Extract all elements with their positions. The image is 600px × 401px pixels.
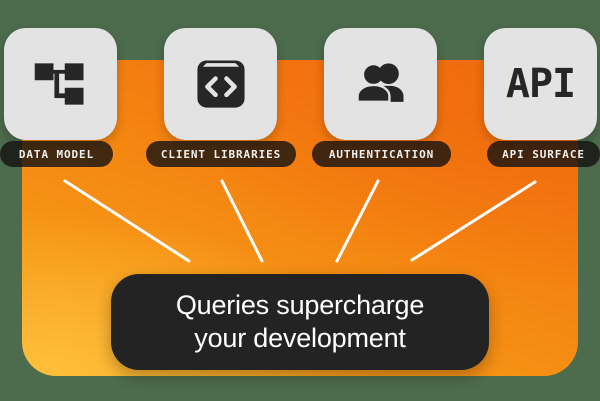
label-pill-client-libraries[interactable]: CLIENT LIBRARIES	[146, 141, 296, 167]
diagram-stage: API DATA MODEL CLIENT LIBRARIES AUTHENTI…	[0, 0, 600, 401]
callout-line-1: Queries supercharge	[176, 289, 424, 322]
hierarchy-icon	[29, 52, 93, 116]
label-pill-authentication[interactable]: AUTHENTICATION	[312, 141, 451, 167]
api-text-icon: API	[509, 52, 573, 116]
label-text-client-libraries: CLIENT LIBRARIES	[161, 149, 281, 160]
label-text-api-surface: API SURFACE	[502, 149, 585, 160]
card-data-model[interactable]	[4, 28, 117, 140]
label-pill-data-model[interactable]: DATA MODEL	[0, 141, 113, 167]
label-text-authentication: AUTHENTICATION	[329, 149, 434, 160]
users-icon	[349, 52, 413, 116]
label-pill-api-surface[interactable]: API SURFACE	[487, 141, 600, 167]
callout-text: Queries supercharge your development	[158, 289, 442, 356]
api-icon-label: API	[506, 64, 575, 104]
label-text-data-model: DATA MODEL	[19, 149, 94, 160]
card-client-libraries[interactable]	[164, 28, 277, 140]
card-api-surface[interactable]: API	[484, 28, 597, 140]
callout-box: Queries supercharge your development	[111, 274, 489, 370]
card-authentication[interactable]	[324, 28, 437, 140]
callout-line-2: your development	[176, 322, 424, 355]
code-brackets-icon	[189, 52, 253, 116]
